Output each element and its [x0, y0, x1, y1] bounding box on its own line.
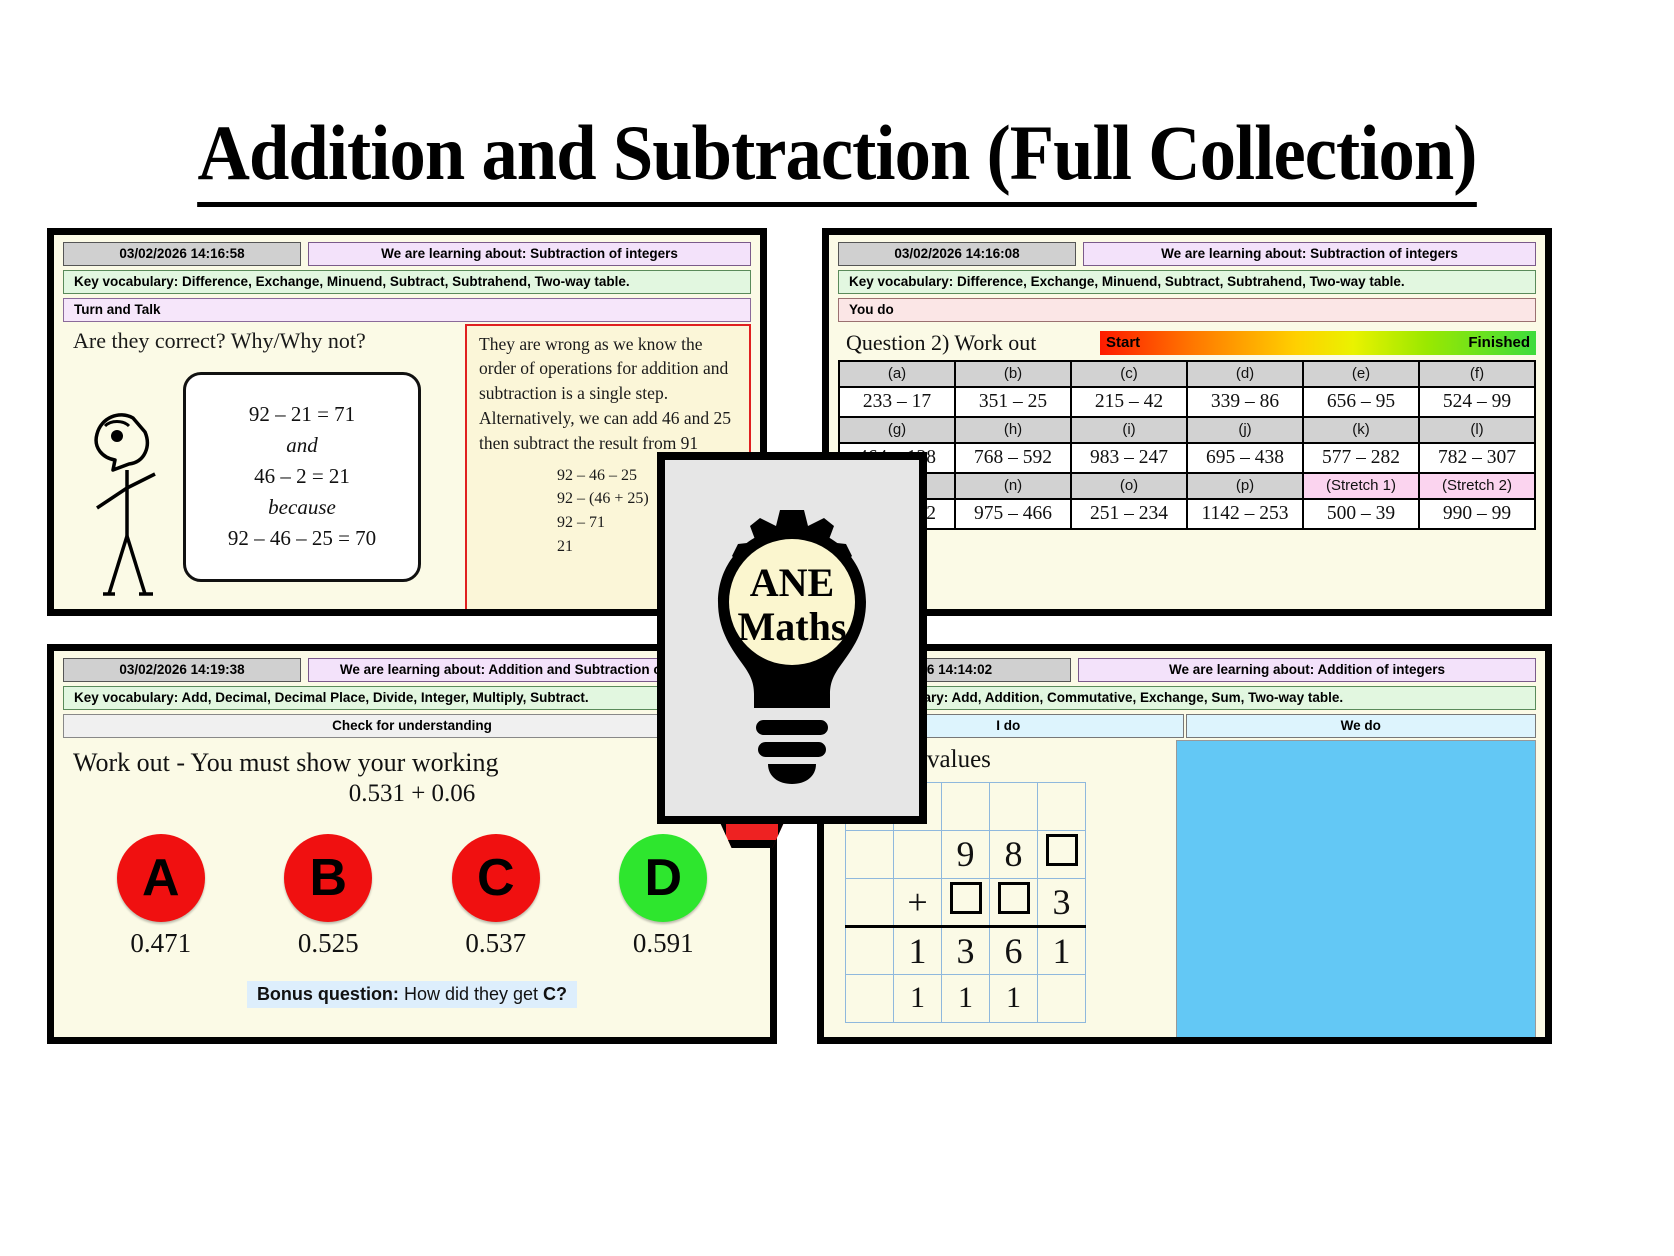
question-label-cell: (e): [1303, 361, 1419, 387]
table-row: 233 – 17351 – 25215 – 42339 – 86656 – 95…: [839, 387, 1535, 417]
grid-cell[interactable]: 1: [1038, 926, 1086, 974]
slide1-left-pane: Are they correct? Why/Why not?: [63, 324, 465, 614]
slide1-phase-band: Turn and Talk: [63, 298, 751, 322]
answer-option-value: 0.471: [96, 928, 226, 959]
question-label-cell: (n): [955, 473, 1071, 499]
slide4-content: missing values 98+31361111: [833, 740, 1536, 1042]
answer-option[interactable]: C0.537: [431, 834, 561, 959]
slide2-questions-table: (a)(b)(c)(d)(e)(f)233 – 17351 – 25215 – …: [838, 360, 1536, 530]
question-value-cell: 251 – 234: [1071, 499, 1187, 529]
grid-cell[interactable]: [846, 926, 894, 974]
question-label-cell: (f): [1419, 361, 1535, 387]
question-label-cell: (p): [1187, 473, 1303, 499]
grid-cell[interactable]: 6: [990, 926, 1038, 974]
question-label-cell: (j): [1187, 417, 1303, 443]
answer-option[interactable]: B0.525: [263, 834, 393, 959]
question-value-cell: 990 – 99: [1419, 499, 1535, 529]
grid-cell[interactable]: 1: [894, 926, 942, 974]
grid-row: 98: [846, 830, 1086, 878]
missing-value-box[interactable]: [998, 882, 1030, 914]
grid-row: 111: [846, 974, 1086, 1022]
difficulty-progress-bar: Start Finished: [1100, 331, 1536, 355]
grid-cell[interactable]: [1038, 974, 1086, 1022]
grid-cell[interactable]: +: [894, 878, 942, 926]
question-value-cell: 524 – 99: [1419, 387, 1535, 417]
answer-option[interactable]: D0.591: [598, 834, 728, 959]
grid-cell[interactable]: [846, 830, 894, 878]
grid-cell[interactable]: 1: [990, 974, 1038, 1022]
grid-cell[interactable]: 8: [990, 830, 1038, 878]
question-value-cell: 215 – 42: [1071, 387, 1187, 417]
slide2-question: Question 2) Work out: [838, 330, 1100, 356]
question-value-cell: 656 – 95: [1303, 387, 1419, 417]
slide2-header-row: 03/02/2026 14:16:08 We are learning abou…: [838, 242, 1536, 266]
page-title: Addition and Subtraction (Full Collectio…: [59, 108, 1616, 207]
question-label-cell: (Stretch 2): [1419, 473, 1535, 499]
ane-maths-logo: ANE Maths: [657, 452, 927, 824]
slide1-date: 03/02/2026 14:16:58: [63, 242, 301, 266]
slide4-band-we-do: We do: [1186, 714, 1537, 738]
question-value-cell: 500 – 39: [1303, 499, 1419, 529]
answer-option-bubble[interactable]: D: [619, 834, 707, 922]
slide2-date: 03/02/2026 14:16:08: [838, 242, 1076, 266]
page-title-text: Addition and Subtraction (Full Collectio…: [198, 108, 1477, 207]
grid-cell[interactable]: 1: [894, 974, 942, 1022]
slide1-math-line-3: 46 – 2 = 21: [254, 466, 350, 487]
slide1-math-line-1: 92 – 21 = 71: [249, 404, 355, 425]
question-value-cell: 768 – 592: [955, 443, 1071, 473]
slide3-bonus-question: Bonus question: How did they get C?: [247, 981, 577, 1008]
slide-subtraction-you-do[interactable]: 03/02/2026 14:16:08 We are learning abou…: [822, 228, 1552, 616]
missing-value-box[interactable]: [1046, 834, 1078, 866]
question-label-cell: (Stretch 1): [1303, 473, 1419, 499]
question-value-cell: 339 – 86: [1187, 387, 1303, 417]
grid-cell[interactable]: [942, 878, 990, 926]
question-value-cell: 975 – 466: [955, 499, 1071, 529]
slide1-answer-text: They are wrong as we know the order of o…: [479, 332, 739, 456]
table-label-row: (m)(n)(o)(p)(Stretch 1)(Stretch 2): [839, 473, 1535, 499]
slide4-topic: We are learning about: Addition of integ…: [1078, 658, 1536, 682]
question-label-cell: (o): [1071, 473, 1187, 499]
answer-option-bubble[interactable]: A: [117, 834, 205, 922]
lightbulb-gear-icon: ANE Maths: [677, 488, 907, 788]
grid-cell[interactable]: [990, 878, 1038, 926]
question-value-cell: 577 – 282: [1303, 443, 1419, 473]
question-label-cell: (l): [1419, 417, 1535, 443]
logo-line-2: Maths: [738, 604, 847, 649]
question-value-cell: 983 – 247: [1071, 443, 1187, 473]
grid-row: 1361: [846, 926, 1086, 974]
table-label-row: (g)(h)(i)(j)(k)(l): [839, 417, 1535, 443]
slide2-topic: We are learning about: Subtraction of in…: [1083, 242, 1536, 266]
answer-option-bubble[interactable]: C: [452, 834, 540, 922]
grid-cell[interactable]: [846, 878, 894, 926]
poster-page: Addition and Subtraction (Full Collectio…: [0, 0, 1674, 1256]
grid-cell[interactable]: [990, 782, 1038, 830]
answer-option-value: 0.525: [263, 928, 393, 959]
bonus-answer: C?: [543, 984, 567, 1004]
missing-value-box[interactable]: [950, 882, 982, 914]
slide1-math-line-4: because: [268, 497, 336, 518]
question-label-cell: (c): [1071, 361, 1187, 387]
bonus-label: Bonus question:: [257, 984, 399, 1004]
answer-option-value: 0.537: [431, 928, 561, 959]
grid-cell[interactable]: [1038, 782, 1086, 830]
slide1-header-row: 03/02/2026 14:16:58 We are learning abou…: [63, 242, 751, 266]
grid-cell[interactable]: 3: [1038, 878, 1086, 926]
slide4-vocabulary: Key vocabulary: Add, Addition, Commutati…: [833, 686, 1536, 710]
grid-cell[interactable]: [846, 974, 894, 1022]
question-label-cell: (g): [839, 417, 955, 443]
table-row: 832 – 512975 – 466251 – 2341142 – 253500…: [839, 499, 1535, 529]
slide1-math-statement-box: 92 – 21 = 71 and 46 – 2 = 21 because 92 …: [183, 372, 421, 582]
question-label-cell: (d): [1187, 361, 1303, 387]
table-row: 464 – 128768 – 592983 – 247695 – 438577 …: [839, 443, 1535, 473]
slide1-math-line-5: 92 – 46 – 25 = 70: [228, 528, 376, 549]
question-label-cell: (k): [1303, 417, 1419, 443]
slide1-vocabulary: Key vocabulary: Difference, Exchange, Mi…: [63, 270, 751, 294]
slide2-phase-band: You do: [838, 298, 1536, 322]
grid-cell[interactable]: [942, 782, 990, 830]
slide2-vocabulary: Key vocabulary: Difference, Exchange, Mi…: [838, 270, 1536, 294]
answer-option-value: 0.591: [598, 928, 728, 959]
table-label-row: (a)(b)(c)(d)(e)(f): [839, 361, 1535, 387]
slide1-question: Are they correct? Why/Why not?: [63, 324, 465, 354]
question-value-cell: 695 – 438: [1187, 443, 1303, 473]
question-value-cell: 1142 – 253: [1187, 499, 1303, 529]
slide2-question-row: Question 2) Work out Start Finished: [838, 330, 1536, 356]
slide3-answer-options: A0.471B0.525C0.537D0.591: [63, 834, 761, 959]
slide3-date: 03/02/2026 14:19:38: [63, 658, 301, 682]
slide4-header-row: 026 14:14:02 We are learning about: Addi…: [833, 658, 1536, 682]
grid-cell[interactable]: 1: [942, 974, 990, 1022]
question-label-cell: (h): [955, 417, 1071, 443]
answer-option[interactable]: A0.471: [96, 834, 226, 959]
slide1-content: Are they correct? Why/Why not?: [63, 324, 751, 614]
grid-cell[interactable]: [1038, 830, 1086, 878]
question-label-cell: (b): [955, 361, 1071, 387]
slide4-we-do-pane[interactable]: [1176, 740, 1536, 1042]
answer-option-bubble[interactable]: B: [284, 834, 372, 922]
question-value-cell: 351 – 25: [955, 387, 1071, 417]
thinking-person-icon: [75, 404, 185, 604]
question-label-cell: (i): [1071, 417, 1187, 443]
question-label-cell: (a): [839, 361, 955, 387]
grid-cell[interactable]: 3: [942, 926, 990, 974]
grid-cell[interactable]: 9: [942, 830, 990, 878]
progress-end-label: Finished: [1468, 334, 1530, 351]
slide1-math-line-2: and: [286, 435, 318, 456]
grid-row: +3: [846, 878, 1086, 926]
progress-start-label: Start: [1106, 334, 1140, 351]
question-value-cell: 233 – 17: [839, 387, 955, 417]
question-value-cell: 782 – 307: [1419, 443, 1535, 473]
slide4-phase-bands: I do We do: [833, 714, 1536, 738]
slide1-topic: We are learning about: Subtraction of in…: [308, 242, 751, 266]
slide-addition-i-do-we-do[interactable]: 026 14:14:02 We are learning about: Addi…: [817, 644, 1552, 1044]
bonus-text: How did they get: [404, 984, 538, 1004]
grid-cell[interactable]: [894, 830, 942, 878]
logo-line-1: ANE: [750, 560, 834, 605]
